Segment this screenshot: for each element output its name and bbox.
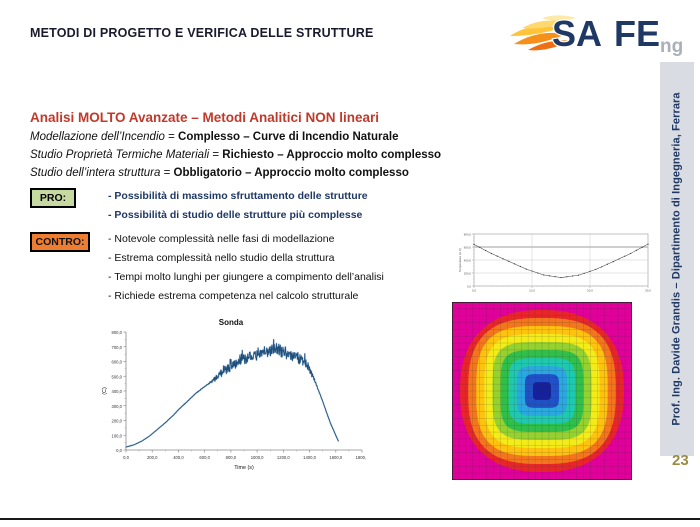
svg-text:30,0: 30,0 <box>645 289 651 293</box>
author-label-wrap: Prof. Ing. Davide Grandis – Dipartimento… <box>660 62 694 456</box>
svg-text:600,0: 600,0 <box>199 455 210 460</box>
svg-text:300,0: 300,0 <box>112 404 123 409</box>
pro-bullet-1: - Possibilità di massimo sfruttamento de… <box>108 190 368 202</box>
svg-text:400,0: 400,0 <box>112 389 123 394</box>
svg-text:700,0: 700,0 <box>112 345 123 350</box>
svg-text:500,0: 500,0 <box>112 374 123 379</box>
sonda-chart: Sonda 0,0100,0200,0300,0400,0500,0600,07… <box>96 318 366 478</box>
slide-root: METODI DI PROGETTO E VERIFICA DELLE STRU… <box>0 0 700 527</box>
definition-value-3: Obbligatorio – Approccio molto complesso <box>174 167 409 179</box>
svg-text:Temperature (in C): Temperature (in C) <box>458 248 462 272</box>
svg-text:200,0: 200,0 <box>147 455 158 460</box>
pro-badge: PRO: <box>30 188 76 208</box>
contro-bullet-4: - Richiede estrema competenza nel calcol… <box>108 290 358 302</box>
safe-logo-sa: SA <box>552 13 602 54</box>
contro-badge: CONTRO: <box>30 232 90 252</box>
bottom-divider <box>0 518 700 520</box>
definition-value-1: Complesso – Curve di Incendio Naturale <box>178 131 398 143</box>
author-label: Prof. Ing. Davide Grandis – Dipartimento… <box>671 92 683 425</box>
svg-text:400,0: 400,0 <box>464 259 472 263</box>
svg-text:0,0: 0,0 <box>116 448 122 453</box>
svg-text:1600,0: 1600,0 <box>329 455 342 460</box>
definition-eq-2: = <box>209 149 222 161</box>
svg-text:800,0: 800,0 <box>464 233 472 237</box>
contro-bullet-3: - Tempi molto lunghi per giungere a comp… <box>108 271 384 283</box>
svg-text:1400,0: 1400,0 <box>303 455 316 460</box>
section-heading: Analisi MOLTO Avanzate – Metodi Analitic… <box>30 110 379 125</box>
svg-text:600,0: 600,0 <box>464 246 472 250</box>
contro-bullet-1: - Notevole complessità nelle fasi di mod… <box>108 233 334 245</box>
section-heatmap-plot <box>452 302 632 480</box>
svg-text:Time (s): Time (s) <box>234 465 254 471</box>
svg-text:100,0: 100,0 <box>112 433 123 438</box>
svg-text:20,0: 20,0 <box>587 289 593 293</box>
svg-text:200,0: 200,0 <box>112 419 123 424</box>
definition-line-1: Modellazione dell’Incendio = Complesso –… <box>30 131 399 143</box>
safe-logo: SA FE ng <box>508 6 688 58</box>
pro-bullet-2: - Possibilità di studio delle strutture … <box>108 209 362 221</box>
svg-text:0,0: 0,0 <box>472 289 476 293</box>
definition-line-2: Studio Proprietà Termiche Materiali = Ri… <box>30 149 441 161</box>
definition-label-1: Modellazione dell’Incendio <box>30 131 165 143</box>
page-title: METODI DI PROGETTO E VERIFICA DELLE STRU… <box>30 26 374 40</box>
section-heatmap <box>452 302 632 480</box>
svg-text:1800,0: 1800,0 <box>356 455 366 460</box>
safe-logo-fe: FE <box>614 13 660 54</box>
temperature-profile-chart: 0,0200,0400,0600,0800,00,010,020,030,0Te… <box>448 228 654 298</box>
safe-logo-ng: ng <box>660 36 683 57</box>
definition-value-2: Richiesto – Approccio molto complesso <box>222 149 441 161</box>
definition-line-3: Studio dell’intera struttura = Obbligato… <box>30 167 409 179</box>
svg-text:1000,0: 1000,0 <box>251 455 264 460</box>
svg-text:10,0: 10,0 <box>529 289 535 293</box>
safe-logo-graphic: SA FE ng <box>508 6 688 58</box>
sonda-chart-plot: 0,0100,0200,0300,0400,0500,0600,0700,080… <box>96 318 366 478</box>
definition-eq-1: = <box>165 131 178 143</box>
contro-bullet-2: - Estrema complessità nello studio della… <box>108 252 334 264</box>
svg-text:800,0: 800,0 <box>226 455 237 460</box>
temperature-profile-plot: 0,0200,0400,0600,0800,00,010,020,030,0Te… <box>448 228 654 298</box>
svg-text:400,0: 400,0 <box>173 455 184 460</box>
svg-text:200,0: 200,0 <box>464 272 472 276</box>
svg-text:0,0: 0,0 <box>467 285 471 289</box>
svg-text:800,0: 800,0 <box>112 330 123 335</box>
svg-text:600,0: 600,0 <box>112 360 123 365</box>
definition-label-2: Studio Proprietà Termiche Materiali <box>30 149 209 161</box>
svg-text:0,0: 0,0 <box>123 455 129 460</box>
definition-eq-3: = <box>160 167 173 179</box>
svg-text:(C): (C) <box>102 387 108 395</box>
svg-text:1200,0: 1200,0 <box>277 455 290 460</box>
page-number: 23 <box>672 452 689 469</box>
definition-label-3: Studio dell’intera struttura <box>30 167 160 179</box>
